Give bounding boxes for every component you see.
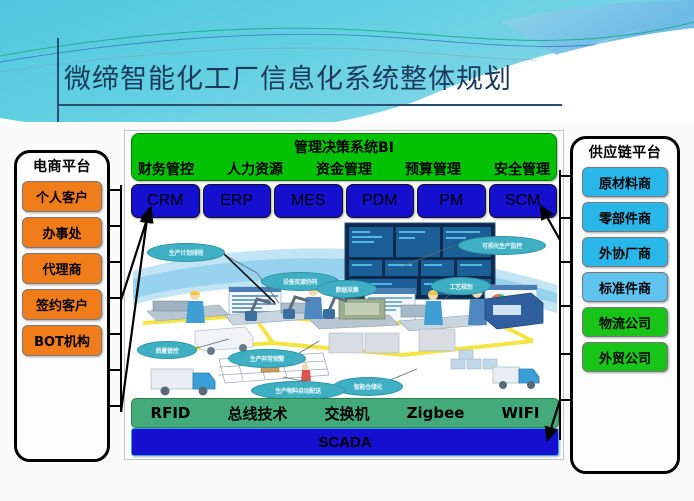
network-rfid: RFID (151, 404, 191, 422)
page-title: 微缔智能化工厂信息化系统整体规划 (64, 57, 512, 96)
callout-production-planning: 生产计划排程 (147, 243, 225, 262)
title-accent-line (57, 38, 59, 122)
network-switch: 交换机 (325, 403, 370, 424)
supply-chain-platform-panel: 供应链平台 原材料商 零部件商 外协厂商 标准件商 物流公司 外贸公司 (570, 136, 680, 474)
ecommerce-item-branch-office[interactable]: 办事处 (22, 217, 102, 248)
callout-data-collection: 数据采集 (317, 280, 377, 298)
scada-label: SCADA (318, 434, 371, 451)
scada-band: SCADA (131, 428, 559, 456)
bi-band-title: 管理决策系统BI (132, 137, 556, 157)
factory-illustration: 生产计划排程 设备资源协同 数据采集 工艺规划 可视化生产监控 质量管控 生产异… (133, 219, 557, 399)
network-fieldbus: 总线技术 (227, 403, 287, 424)
network-wifi: WIFI (502, 404, 540, 422)
title-underline (57, 104, 562, 106)
module-mes[interactable]: MES (274, 184, 343, 218)
supply-item-foreign-trade[interactable]: 外贸公司 (582, 342, 668, 372)
bi-band: 管理决策系统BI 财务管控 人力资源 资金管理 预算管理 安全管理 (131, 133, 557, 181)
module-row: CRM ERP MES PDM PM SCM (131, 184, 557, 218)
callout-abnormality-alert: 生产异常预警 (228, 349, 306, 368)
callout-visual-monitoring: 可视化生产监控 (458, 236, 546, 255)
ecommerce-item-bot-organization[interactable]: BOT机构 (22, 325, 102, 356)
supply-item-logistics[interactable]: 物流公司 (582, 307, 668, 337)
callout-smart-warehouse: 智能仓储化 (333, 377, 403, 396)
callout-label: 设备资源协同 (283, 277, 317, 286)
network-zigbee: Zigbee (407, 404, 465, 422)
bi-function-finance: 财务管控 (138, 159, 194, 179)
ecommerce-item-agent[interactable]: 代理商 (22, 253, 102, 284)
bi-function-funds: 资金管理 (316, 159, 372, 179)
slide-canvas: 微缔智能化工厂信息化系统整体规划 (0, 0, 694, 501)
supply-chain-platform-title: 供应链平台 (573, 142, 677, 162)
callout-material-delivery: 生产物料自动配送 (251, 381, 345, 399)
ecommerce-item-contract-customer[interactable]: 签约客户 (22, 289, 102, 320)
bi-function-budget: 预算管理 (405, 159, 461, 179)
supply-item-components[interactable]: 零部件商 (582, 202, 668, 232)
ecommerce-platform-title: 电商平台 (17, 156, 107, 176)
module-erp[interactable]: ERP (203, 184, 272, 218)
callout-label: 工艺规划 (450, 282, 473, 291)
header-banner: 微缔智能化工厂信息化系统整体规划 (0, 0, 694, 122)
callout-process-planning: 工艺规划 (431, 277, 491, 295)
module-crm[interactable]: CRM (131, 184, 200, 218)
callout-label: 生产异常预警 (250, 354, 284, 363)
ecommerce-platform-panel: 电商平台 个人客户 办事处 代理商 签约客户 BOT机构 (14, 150, 110, 462)
ecommerce-item-individual-customer[interactable]: 个人客户 (22, 181, 102, 212)
module-scm[interactable]: SCM (489, 184, 558, 218)
bi-function-hr: 人力资源 (227, 159, 283, 179)
callout-label: 智能仓储化 (354, 382, 383, 391)
bi-function-safety: 安全管理 (494, 159, 550, 179)
module-pm[interactable]: PM (417, 184, 486, 218)
module-pdm[interactable]: PDM (346, 184, 415, 218)
callout-label: 质量管控 (156, 346, 179, 355)
supply-item-standard-parts[interactable]: 标准件商 (582, 272, 668, 302)
callout-quality-control: 质量管控 (137, 341, 197, 359)
callout-label: 数据采集 (336, 285, 359, 294)
callout-label: 生产计划排程 (169, 248, 203, 257)
network-band: RFID 总线技术 交换机 Zigbee WIFI (131, 398, 559, 428)
bi-band-functions: 财务管控 人力资源 资金管理 预算管理 安全管理 (132, 159, 556, 179)
callout-label: 可视化生产监控 (482, 241, 522, 250)
callout-label: 生产物料自动配送 (275, 386, 321, 395)
supply-item-raw-material[interactable]: 原材料商 (582, 167, 668, 197)
supply-item-outsourcing[interactable]: 外协厂商 (582, 237, 668, 267)
